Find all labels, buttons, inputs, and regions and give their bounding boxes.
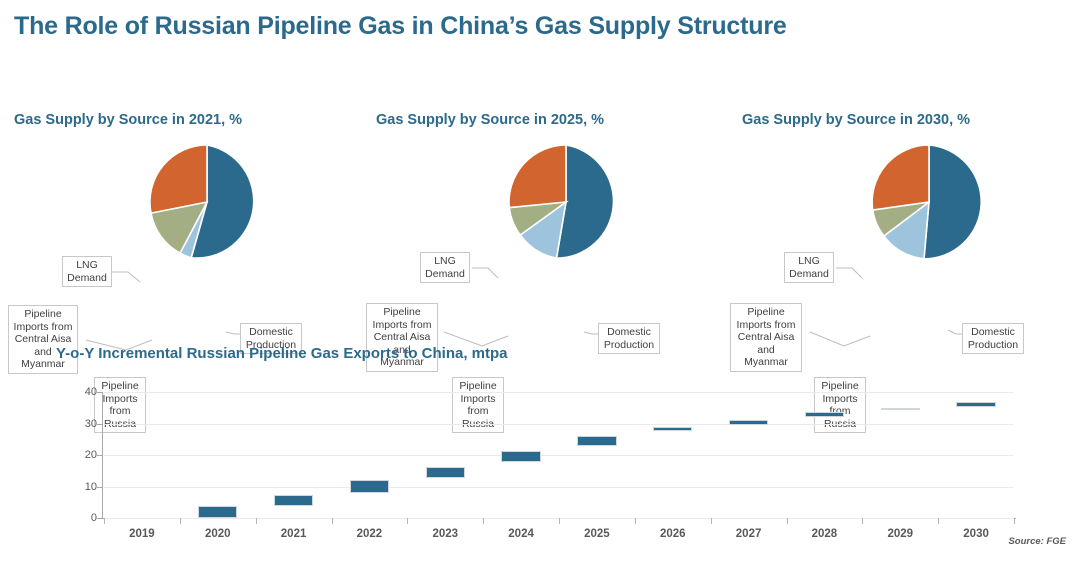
callout-lng-demand: LNG Demand <box>784 252 834 283</box>
y-axis-tick-label: 40 <box>85 386 97 398</box>
callout-lng-demand: LNG Demand <box>420 252 470 283</box>
x-axis-tick-mark <box>862 518 863 524</box>
x-axis-tick-mark <box>332 518 333 524</box>
bar-2028 <box>805 412 844 418</box>
x-axis-tick-label: 2023 <box>432 528 458 540</box>
pie-panel-2021: Gas Supply by Source in 2021, % LNG Dema… <box>0 100 360 350</box>
x-axis-tick-mark <box>180 518 181 524</box>
pie-chart-2030 <box>870 143 988 261</box>
bar-2020 <box>198 506 237 518</box>
x-axis-tick-mark <box>483 518 484 524</box>
pie-slice-domestic-production <box>924 145 981 259</box>
y-axis-tick-mark <box>97 518 102 519</box>
bar-chart-title: Y-o-Y Incremental Russian Pipeline Gas E… <box>56 345 508 362</box>
y-axis-tick-mark <box>97 424 102 425</box>
bar-chart-section: Y-o-Y Incremental Russian Pipeline Gas E… <box>0 340 1080 562</box>
pie-chart-2025 <box>507 143 625 261</box>
x-axis-tick-label: 2030 <box>963 528 989 540</box>
pie-panel-2030: Gas Supply by Source in 2030, % LNG Dema… <box>728 100 1080 350</box>
page-title: The Role of Russian Pipeline Gas in Chin… <box>14 12 787 41</box>
bar-2021 <box>274 495 313 506</box>
bar-2030 <box>956 402 995 407</box>
x-axis-tick-mark <box>256 518 257 524</box>
y-axis-tick-mark <box>97 455 102 456</box>
bar-2022 <box>350 480 389 493</box>
x-axis-tick-label: 2027 <box>736 528 762 540</box>
bar-2029 <box>881 408 920 410</box>
x-axis-tick-mark <box>787 518 788 524</box>
bar-2025 <box>577 436 616 446</box>
y-axis-tick-label: 30 <box>85 418 97 430</box>
x-axis-tick-label: 2029 <box>887 528 913 540</box>
y-axis-tick-label: 20 <box>85 449 97 461</box>
x-axis-tick-mark <box>104 518 105 524</box>
gridline <box>104 424 1014 425</box>
bar-2023 <box>426 467 465 478</box>
bar-2027 <box>729 420 768 425</box>
pie-svg-2030 <box>870 143 988 261</box>
pie-slice-lng-demand <box>150 145 207 213</box>
pie-panel-2025: Gas Supply by Source in 2025, % LNG Dema… <box>362 100 722 350</box>
bar-2026 <box>653 427 692 432</box>
pie-svg-2025 <box>507 143 625 261</box>
x-axis-tick-mark <box>559 518 560 524</box>
gridline <box>104 487 1014 488</box>
x-axis-tick-label: 2026 <box>660 528 686 540</box>
bar-2024 <box>501 451 540 462</box>
pie-svg-2021 <box>148 143 266 261</box>
y-axis-line <box>102 392 103 519</box>
x-axis-tick-label: 2022 <box>357 528 383 540</box>
x-axis-tick-label: 2021 <box>281 528 307 540</box>
pie-title-2030: Gas Supply by Source in 2030, % <box>742 112 970 128</box>
x-axis-tick-label: 2019 <box>129 528 155 540</box>
gridline <box>104 455 1014 456</box>
y-axis-tick-mark <box>97 487 102 488</box>
x-axis-tick-mark <box>711 518 712 524</box>
y-axis-tick-mark <box>97 392 102 393</box>
x-axis-tick-label: 2020 <box>205 528 231 540</box>
x-axis-tick-mark <box>938 518 939 524</box>
gridline <box>104 392 1014 393</box>
callout-lng-demand: LNG Demand <box>62 256 112 287</box>
x-axis-tick-mark <box>635 518 636 524</box>
bar-chart-plot-area: 010203040 201920202021202220232024202520… <box>104 392 1014 518</box>
pie-slice-lng-demand <box>509 145 566 208</box>
pie-title-2021: Gas Supply by Source in 2021, % <box>14 112 242 128</box>
x-axis-tick-label: 2024 <box>508 528 534 540</box>
slide-canvas: The Role of Russian Pipeline Gas in Chin… <box>0 0 1080 562</box>
pie-chart-2021 <box>148 143 266 261</box>
pie-title-2025: Gas Supply by Source in 2025, % <box>376 112 604 128</box>
x-axis-tick-mark <box>407 518 408 524</box>
x-axis-tick-mark <box>1014 518 1015 524</box>
pie-slice-lng-demand <box>872 145 929 210</box>
x-axis-tick-label: 2025 <box>584 528 610 540</box>
x-axis-tick-label: 2028 <box>812 528 838 540</box>
y-axis-tick-label: 10 <box>85 481 97 493</box>
source-note: Source: FGE <box>1008 536 1066 547</box>
